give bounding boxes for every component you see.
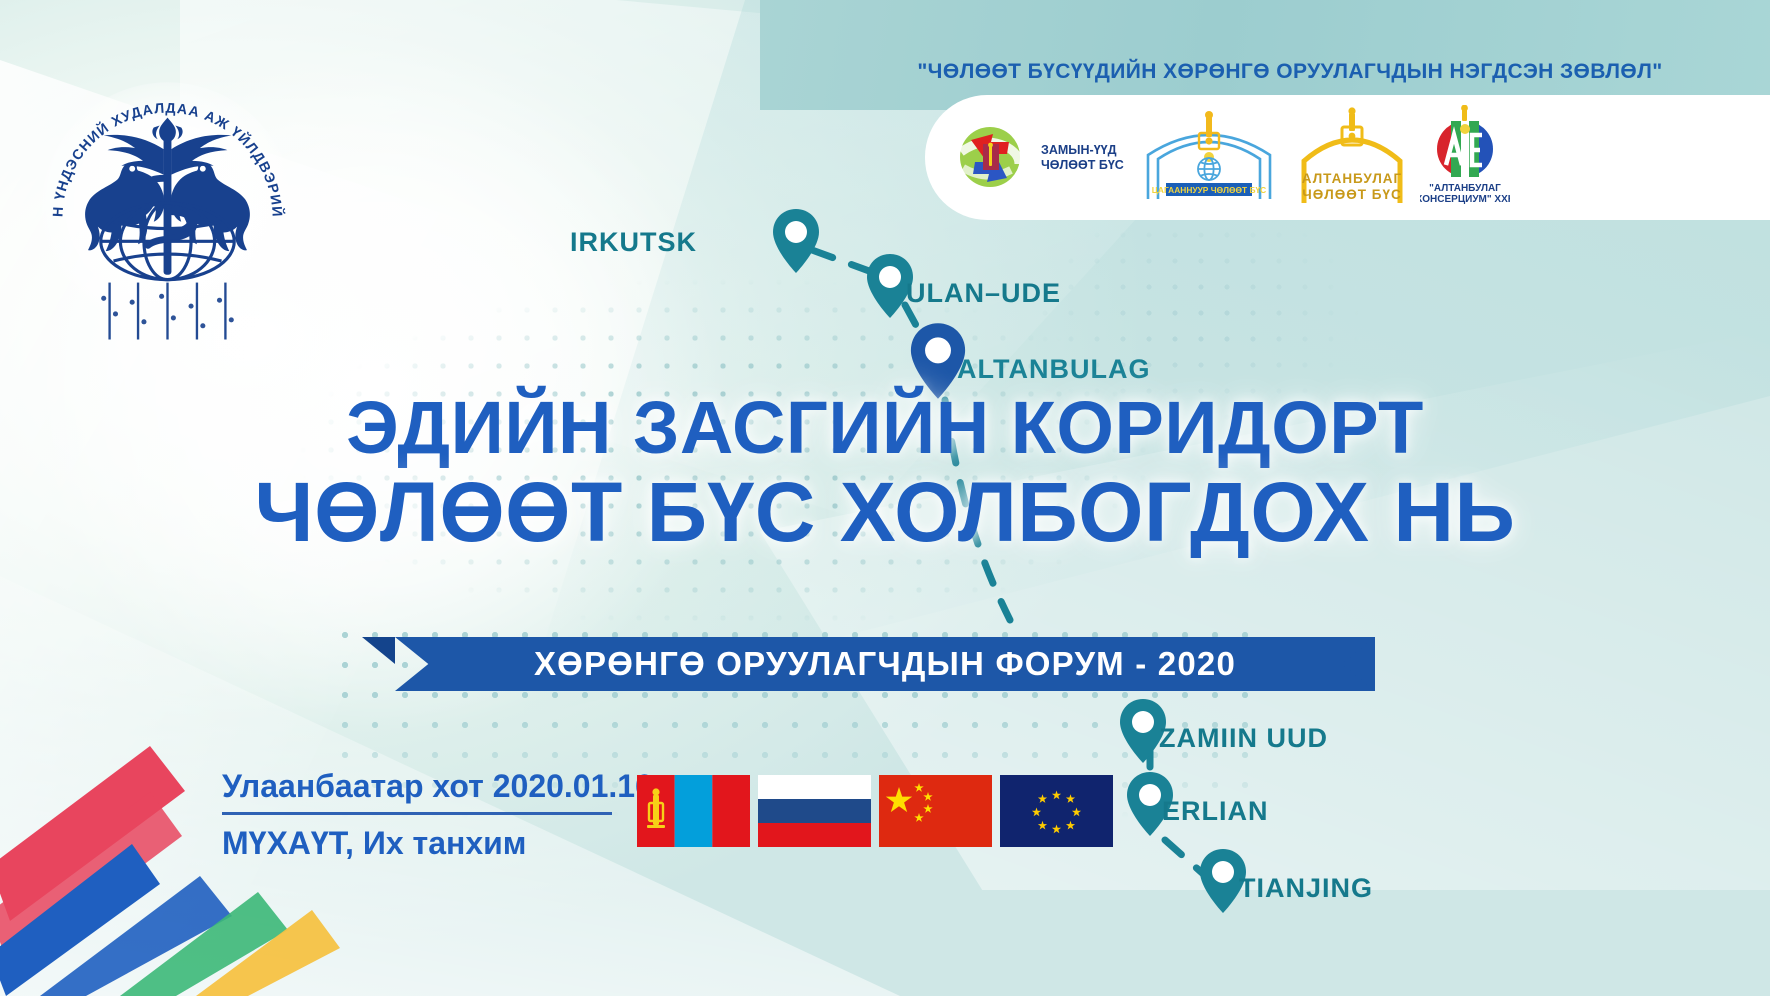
event-poster: МОНГОЛЫН ҮНДЭСНИЙ ХУДАЛДАА АЖ ҮЙЛДВЭРИЙН… (0, 0, 1770, 996)
ger-outline-blue-icon: ЦАГААННУУР ЧӨЛӨӨТ БҮС (1134, 107, 1284, 208)
map-pin-ulan-ude[interactable]: ULAN–UDE (862, 250, 918, 327)
mncci-emblem: МОНГОЛЫН ҮНДЭСНИЙ ХУДАЛДАА АЖ ҮЙЛДВЭРИЙН… (35, 72, 300, 342)
map-pin-zamiin-uud[interactable]: ZAMIIN UUD (1115, 695, 1171, 772)
map-pin-tianjing[interactable]: TIANJING (1195, 845, 1251, 922)
partner-logo-altanbulag-fez: АЛТАНБУЛАГ ЧӨЛӨӨТ БҮС (1294, 105, 1410, 210)
map-pin-label-erlian: ERLIAN (1162, 796, 1269, 827)
consortium-line2: КОНСЕРЦИУМ" ХХК (1420, 194, 1510, 205)
title-line-2: ЧӨЛӨӨТ БҮС ХОЛБОГДОХ НЬ (0, 471, 1770, 553)
partner-logo-tsagaannuur: ЦАГААННУУР ЧӨЛӨӨТ БҮС (1134, 107, 1284, 208)
partner-logos-card: ЗАМЫН-ҮҮД ЧӨЛӨӨТ БҮС (925, 95, 1770, 220)
map-pin-label-irkutsk: IRKUTSK (570, 227, 697, 258)
event-city-date: Улаанбаатар хот 2020.01.16 (222, 768, 653, 805)
partner-logo-altanbulag-consortium: "АЛТАНБУЛАГ КОНСЕРЦИУМ" ХХК (1420, 105, 1510, 210)
aie-circle-icon: "АЛТАНБУЛАГ КОНСЕРЦИУМ" ХХК (1420, 105, 1510, 210)
forum-ribbon-banner: ХӨРӨНГӨ ОРУУЛАГЧДЫН ФОРУМ - 2020 (395, 637, 1375, 691)
consortium-line1: "АЛТАНБУЛАГ (1429, 183, 1501, 194)
header-strip (760, 0, 1770, 110)
map-pin-label-tianjing: TIANJING (1239, 873, 1373, 904)
altanbulag-fez-line2: ЧӨЛӨӨТ БҮС (1302, 187, 1401, 202)
map-pin-label-ulan-ude: ULAN–UDE (906, 278, 1061, 309)
russia-flag (758, 775, 871, 847)
map-pin-irkutsk[interactable]: IRKUTSK (768, 205, 824, 282)
tsagaannuur-logo-text: ЦАГААННУУР ЧӨЛӨӨТ БҮС (1152, 185, 1266, 195)
map-pin-label-altanbulag: ALTANBULAG (957, 354, 1150, 385)
location-pin-icon (768, 205, 824, 277)
altanbulag-fez-line1: АЛТАНБУЛАГ (1302, 171, 1402, 186)
partner-logo-zamiin-uud-caption: ЗАМЫН-ҮҮД ЧӨЛӨӨТ БҮС (1041, 143, 1124, 172)
ger-outline-gold-icon: АЛТАНБУЛАГ ЧӨЛӨӨТ БҮС (1294, 105, 1410, 210)
title-line-1: ЭДИЙН ЗАСГИЙН КОРИДОРТ (0, 392, 1770, 465)
council-title: "ЧӨЛӨӨТ БҮСҮҮДИЙН ХӨРӨНГӨ ОРУУЛАГЧДЫН НЭ… (860, 60, 1720, 84)
map-pin-label-zamiin-uud: ZAMIIN UUD (1159, 723, 1328, 754)
event-details: Улаанбаатар хот 2020.01.16 МҮХАҮТ, Их та… (222, 768, 653, 862)
poster-title: ЭДИЙН ЗАСГИЙН КОРИДОРТ ЧӨЛӨӨТ БҮС ХОЛБОГ… (0, 392, 1770, 553)
globe-arrows-icon (947, 112, 1033, 203)
forum-ribbon-text: ХӨРӨНГӨ ОРУУЛАГЧДЫН ФОРУМ - 2020 (534, 645, 1236, 683)
event-venue: МҮХАҮТ, Их танхим (222, 825, 653, 862)
divider (222, 812, 612, 815)
mongolia-flag (637, 775, 750, 847)
map-pin-erlian[interactable]: ERLIAN (1122, 768, 1178, 845)
european-union-flag (1000, 775, 1113, 847)
flag-row (637, 775, 1113, 847)
partner-logo-zamiin-uud: ЗАМЫН-ҮҮД ЧӨЛӨӨТ БҮС (947, 112, 1124, 203)
china-flag (879, 775, 992, 847)
